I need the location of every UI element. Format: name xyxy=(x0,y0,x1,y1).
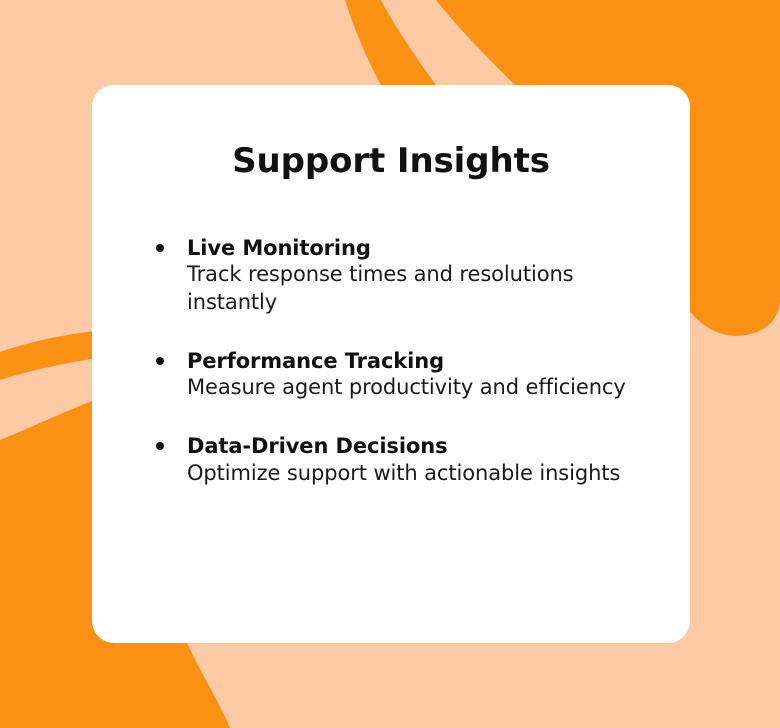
feature-description: Optimize support with actionable insight… xyxy=(187,460,639,488)
page-title: Support Insights xyxy=(92,141,690,181)
feature-title: Performance Tracking xyxy=(187,348,670,374)
list-item: Live Monitoring Track response times and… xyxy=(150,235,670,317)
feature-list: Live Monitoring Track response times and… xyxy=(150,235,670,487)
feature-description: Measure agent productivity and efficienc… xyxy=(187,374,639,402)
feature-description: Track response times and resolutions ins… xyxy=(187,261,639,317)
list-item: Data-Driven Decisions Optimize support w… xyxy=(150,433,670,487)
feature-title: Live Monitoring xyxy=(187,235,670,261)
feature-title: Data-Driven Decisions xyxy=(187,433,670,459)
bullet-icon xyxy=(156,357,164,365)
slide-canvas: Support Insights Live Monitoring Track r… xyxy=(0,0,780,728)
content-card: Support Insights Live Monitoring Track r… xyxy=(92,85,690,643)
bullet-icon xyxy=(156,442,164,450)
list-item: Performance Tracking Measure agent produ… xyxy=(150,348,670,402)
bullet-icon xyxy=(156,244,164,252)
